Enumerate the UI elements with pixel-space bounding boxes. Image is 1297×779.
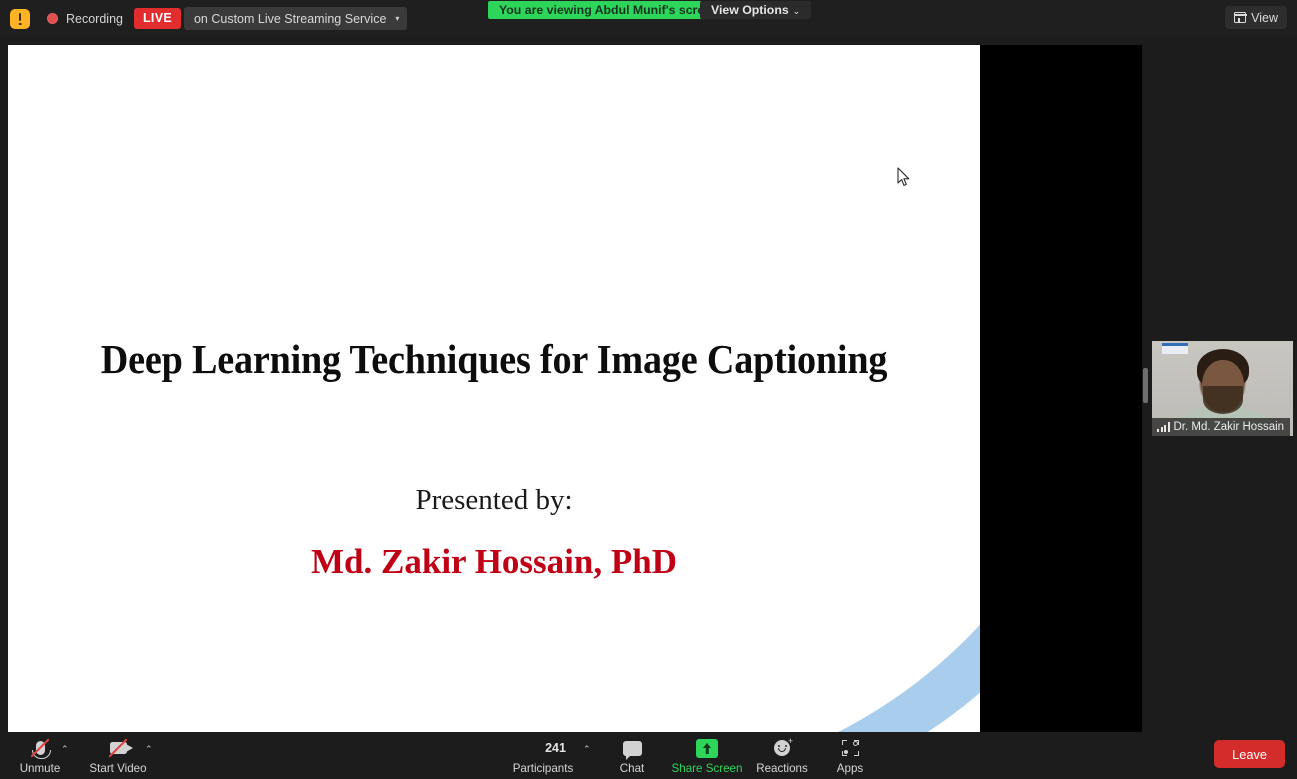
chat-label: Chat [620,762,645,775]
chevron-down-icon: ⌄ [793,6,801,16]
top-bar: Recording LIVE on Custom Live Streaming … [0,0,1297,37]
chat-button[interactable]: Chat [598,735,666,778]
presentation-slide: Deep Learning Techniques for Image Capti… [8,45,980,732]
camera-off-icon [104,737,132,759]
participant-beard [1203,386,1243,414]
live-badge: LIVE [134,8,181,29]
filmstrip-drag-handle[interactable] [1143,368,1148,403]
leave-meeting-button[interactable]: Leave [1214,740,1285,768]
unmute-label: Unmute [20,762,61,775]
start-video-label: Start Video [89,762,146,775]
participants-button[interactable]: 241 Participants [509,735,577,778]
share-screen-icon [693,737,721,759]
recording-dot-icon[interactable] [47,13,58,24]
apps-label: Apps [837,762,863,775]
viewing-screen-banner: You are viewing Abdul Munif's screen [488,1,730,19]
view-options-label: View Options [711,3,789,17]
participants-label: Participants [513,762,574,775]
grid-layout-icon [1234,12,1246,23]
chevron-down-icon: ▾ [395,14,399,23]
apps-button[interactable]: Apps [816,735,884,778]
participants-chevron-icon[interactable]: ⌃ [583,744,591,755]
shared-screen-stage[interactable]: Deep Learning Techniques for Image Capti… [8,45,1142,732]
meeting-toolbar: Unmute ⌃ Start Video ⌃ 241 Participants … [0,732,1297,779]
smiley-reactions-icon: + [768,737,796,759]
live-stream-service-label: on Custom Live Streaming Service [194,12,386,26]
audio-signal-bars-icon [1157,422,1170,432]
start-video-button[interactable]: Start Video [84,735,152,778]
audio-options-chevron-icon[interactable]: ⌃ [61,744,69,755]
view-options-button[interactable]: View Options⌄ [700,1,811,19]
shield-warning-icon[interactable] [10,9,30,29]
zoom-meeting-window: Recording LIVE on Custom Live Streaming … [0,0,1297,779]
reactions-button[interactable]: + Reactions [748,735,816,778]
participants-icon: 241 [520,737,566,759]
reactions-label: Reactions [756,762,808,775]
slide-content: Deep Learning Techniques for Image Capti… [8,45,980,732]
slide-title: Deep Learning Techniques for Image Capti… [42,335,946,383]
chat-bubble-icon [618,737,646,759]
recording-label: Recording [66,12,123,26]
mouse-cursor-icon [897,167,911,187]
unmute-button[interactable]: Unmute [6,735,74,778]
slide-presenter-name: Md. Zakir Hossain, PhD [8,542,980,582]
participant-name-label-container: Dr. Md. Zakir Hossain [1152,418,1290,436]
participants-count: 241 [545,741,566,755]
share-screen-button[interactable]: Share Screen [673,735,741,778]
microphone-muted-icon [26,737,54,759]
apps-icon [836,737,864,759]
share-screen-label: Share Screen [672,762,743,775]
view-layout-button[interactable]: View [1225,6,1287,29]
participant-name-label: Dr. Md. Zakir Hossain [1174,421,1285,433]
video-options-chevron-icon[interactable]: ⌃ [145,744,153,755]
top-bar-left-group: Recording LIVE on Custom Live Streaming … [6,0,407,37]
slide-presented-by-label: Presented by: [8,484,980,517]
live-stream-service-chip[interactable]: on Custom Live Streaming Service ▾ [184,7,407,30]
participant-video-thumbnail[interactable]: Dr. Md. Zakir Hossain [1152,341,1293,436]
view-button-label: View [1251,11,1278,25]
background-poster [1162,343,1188,354]
